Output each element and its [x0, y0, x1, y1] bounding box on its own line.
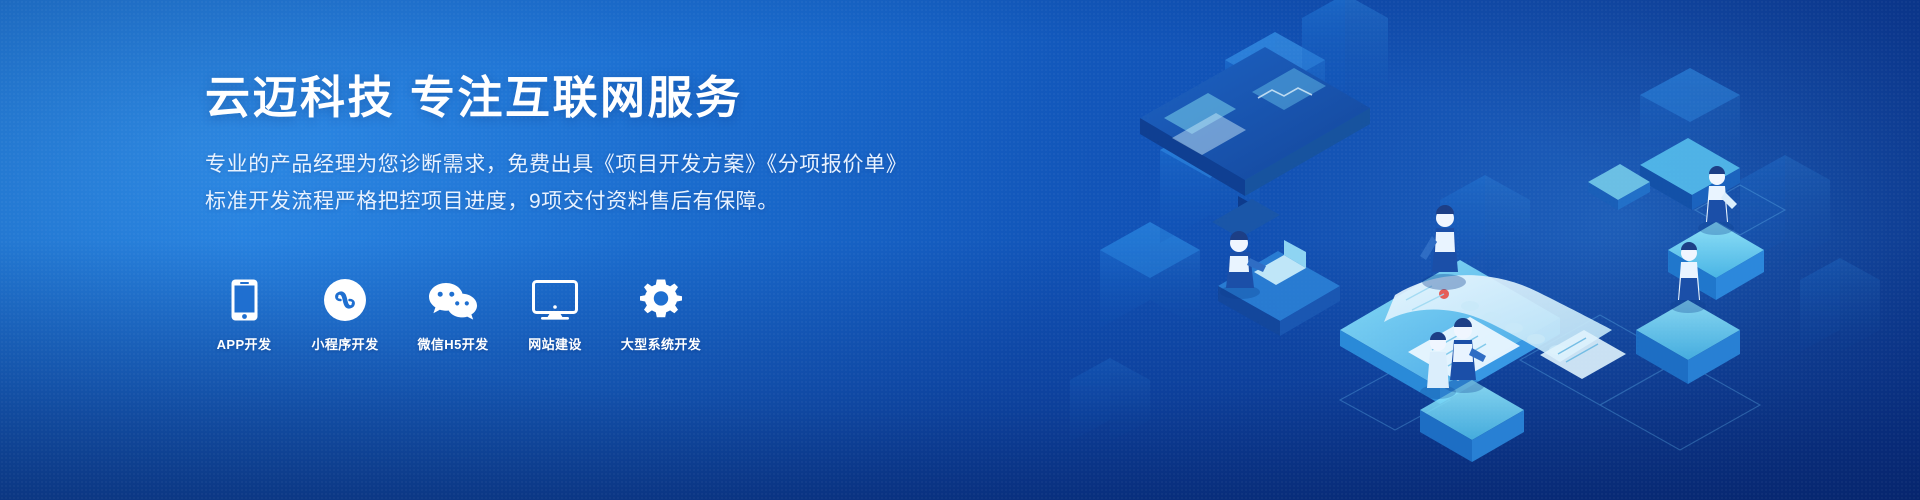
- service-item-app[interactable]: APP开发: [205, 278, 283, 353]
- isometric-illustration: [1040, 0, 1920, 500]
- gear-icon: [640, 278, 682, 322]
- subtitle-line-2: 标准开发流程严格把控项目进度，9项交付资料售后有保障。: [205, 183, 945, 220]
- service-label-large-system: 大型系统开发: [621, 334, 701, 353]
- service-label-app: APP开发: [217, 334, 272, 353]
- smartphone-icon: [231, 278, 258, 322]
- service-item-large-system[interactable]: 大型系统开发: [611, 278, 711, 353]
- mini-program-icon: [324, 278, 366, 322]
- subtitle-line-1: 专业的产品经理为您诊断需求，免费出具《项目开发方案》《分项报价单》: [205, 146, 945, 183]
- service-label-wechat-h5: 微信H5开发: [417, 334, 488, 353]
- service-list: APP开发 小程序开发: [205, 278, 727, 353]
- service-item-website[interactable]: 网站建设: [515, 278, 595, 353]
- page-title: 云迈科技 专注互联网服务: [205, 72, 945, 124]
- service-label-website: 网站建设: [528, 334, 582, 353]
- hero-banner: 云迈科技 专注互联网服务 专业的产品经理为您诊断需求，免费出具《项目开发方案》《…: [0, 0, 1920, 500]
- service-item-mini-program[interactable]: 小程序开发: [299, 278, 391, 353]
- banner-text-block: 云迈科技 专注互联网服务 专业的产品经理为您诊断需求，免费出具《项目开发方案》《…: [205, 72, 945, 220]
- service-item-wechat-h5[interactable]: 微信H5开发: [407, 278, 499, 353]
- service-label-mini-program: 小程序开发: [311, 334, 378, 353]
- monitor-icon: [532, 278, 578, 322]
- wechat-icon: [427, 278, 479, 322]
- person-right-bottom-standing: [1452, 413, 1492, 427]
